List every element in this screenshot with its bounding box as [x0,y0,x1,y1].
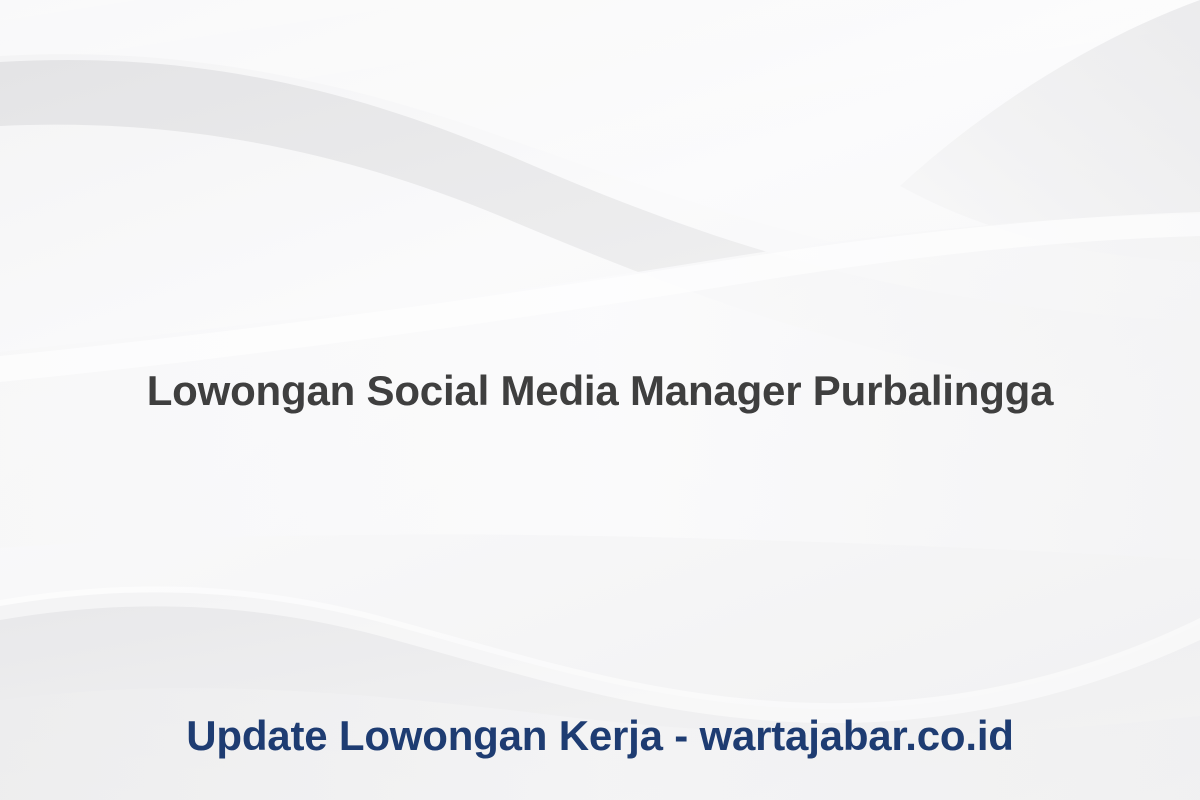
banner-content: Lowongan Social Media Manager Purbalingg… [0,0,1200,800]
page-title: Lowongan Social Media Manager Purbalingg… [60,366,1140,416]
site-branding-text: Update Lowongan Kerja - wartajabar.co.id [40,712,1160,760]
headline-block: Lowongan Social Media Manager Purbalingg… [0,366,1200,416]
footer-block: Update Lowongan Kerja - wartajabar.co.id [0,712,1200,760]
banner-canvas: Lowongan Social Media Manager Purbalingg… [0,0,1200,800]
